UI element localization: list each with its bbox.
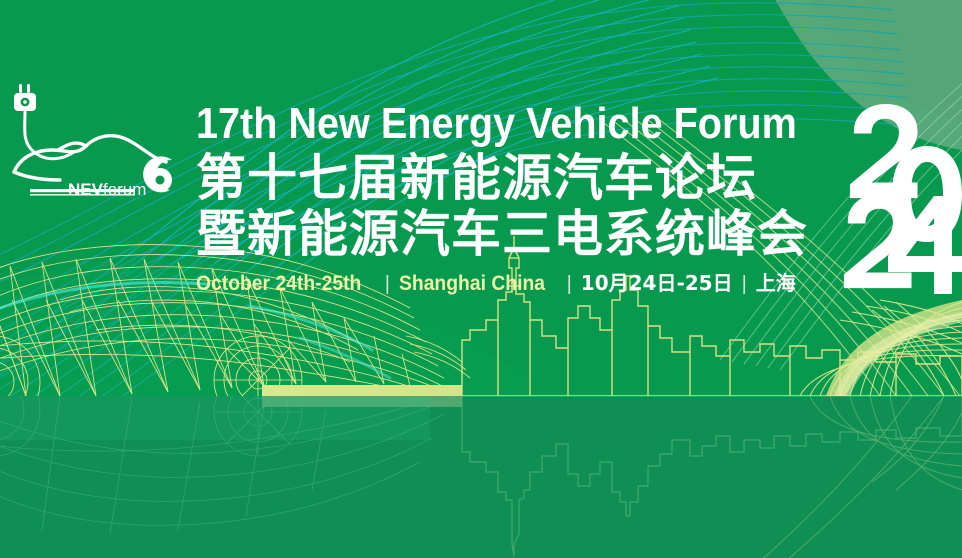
- event-poster: NEVforum 17th New Energy Vehicle Forum 第…: [0, 0, 962, 558]
- year-badge-2024: [0, 0, 962, 558]
